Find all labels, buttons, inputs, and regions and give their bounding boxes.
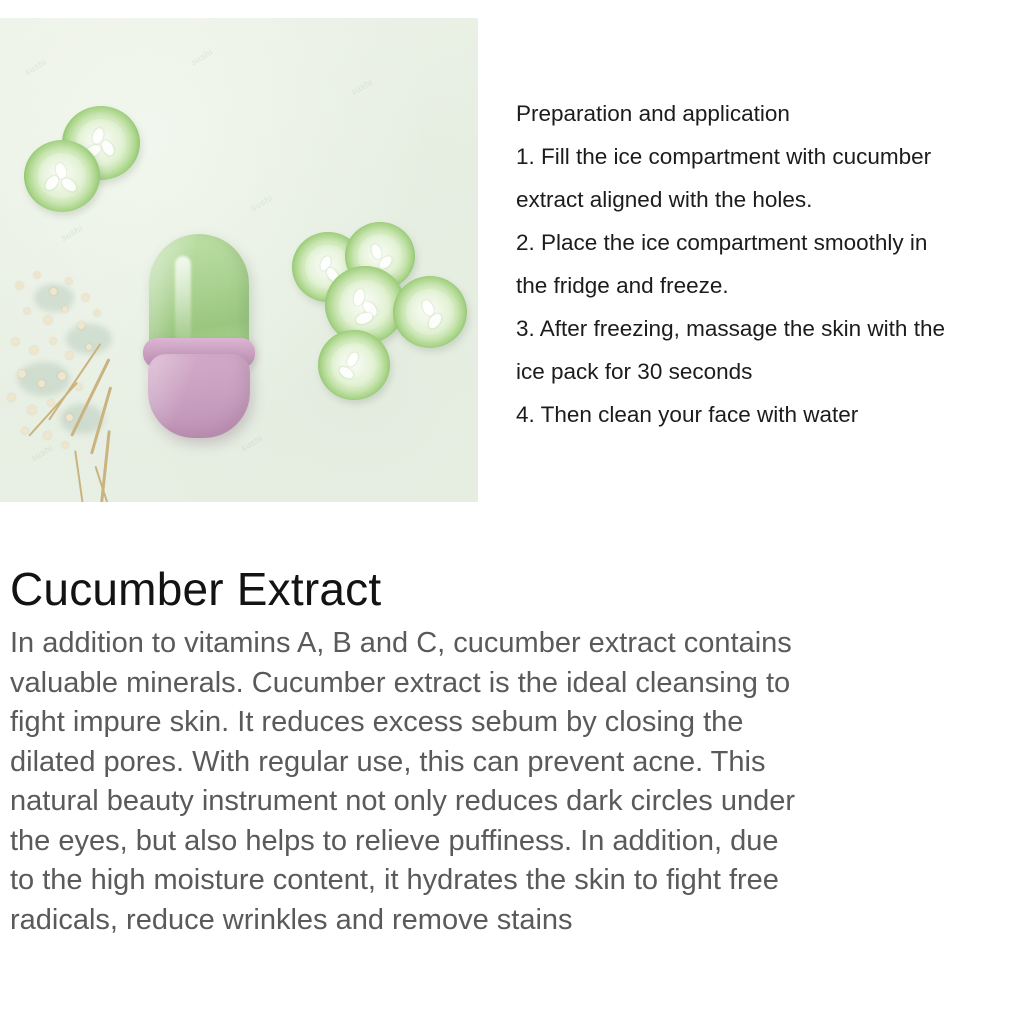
- product-title: Cucumber Extract: [10, 560, 1014, 618]
- description-line: natural beauty instrument not only reduc…: [10, 782, 1014, 822]
- watermark: sushi: [249, 193, 274, 213]
- description-line: radicals, reduce wrinkles and remove sta…: [10, 901, 1014, 941]
- instruction-step-3-line-1: 3. After freezing, massage the skin with…: [516, 307, 1024, 350]
- roller-silicone-cup: [148, 354, 250, 438]
- description-line: to the high moisture content, it hydrate…: [10, 861, 1014, 901]
- description-line: the eyes, but also helps to relieve puff…: [10, 822, 1014, 862]
- description-line: dilated pores. With regular use, this ca…: [10, 743, 1014, 783]
- cucumber-seed: [369, 243, 383, 260]
- instruction-step-4: 4. Then clean your face with water: [516, 393, 1024, 436]
- cucumber-slice: [393, 276, 467, 348]
- instruction-step-1-line-2: extract aligned with the holes.: [516, 178, 1024, 221]
- instruction-step-3-line-2: ice pack for 30 seconds: [516, 350, 1024, 393]
- watermark: sushi: [59, 223, 84, 243]
- description-section: Cucumber Extract In addition to vitamins…: [10, 560, 1014, 940]
- instruction-step-1-line-1: 1. Fill the ice compartment with cucumbe…: [516, 135, 1024, 178]
- cucumber-seed: [338, 364, 356, 380]
- instruction-step-2-line-1: 2. Place the ice compartment smoothly in: [516, 221, 1024, 264]
- cucumber-slice: [24, 140, 100, 212]
- product-photo: sushi sushi sushi sushi sushi sushi sush…: [0, 18, 478, 502]
- description-line: In addition to vitamins A, B and C, cucu…: [10, 624, 1014, 664]
- instructions-block: Preparation and application 1. Fill the …: [516, 92, 1024, 436]
- instruction-step-2-line-2: the fridge and freeze.: [516, 264, 1024, 307]
- description-line: valuable minerals. Cucumber extract is t…: [10, 664, 1014, 704]
- instructions-heading: Preparation and application: [516, 92, 1024, 135]
- cucumber-seed: [345, 351, 361, 369]
- dried-flower-sprig: [4, 254, 154, 502]
- cucumber-seed: [59, 176, 77, 194]
- product-description: In addition to vitamins A, B and C, cucu…: [10, 624, 1014, 940]
- cucumber-seed: [99, 139, 116, 158]
- description-line: fight impure skin. It reduces excess seb…: [10, 703, 1014, 743]
- watermark: sushi: [349, 77, 374, 97]
- watermark: sushi: [23, 57, 48, 77]
- cucumber-slice: [318, 330, 390, 400]
- watermark: sushi: [239, 433, 264, 453]
- watermark: sushi: [189, 47, 214, 67]
- cucumber-seed: [354, 310, 374, 326]
- ice-roller-product: [143, 234, 255, 422]
- top-section: sushi sushi sushi sushi sushi sushi sush…: [0, 0, 1024, 520]
